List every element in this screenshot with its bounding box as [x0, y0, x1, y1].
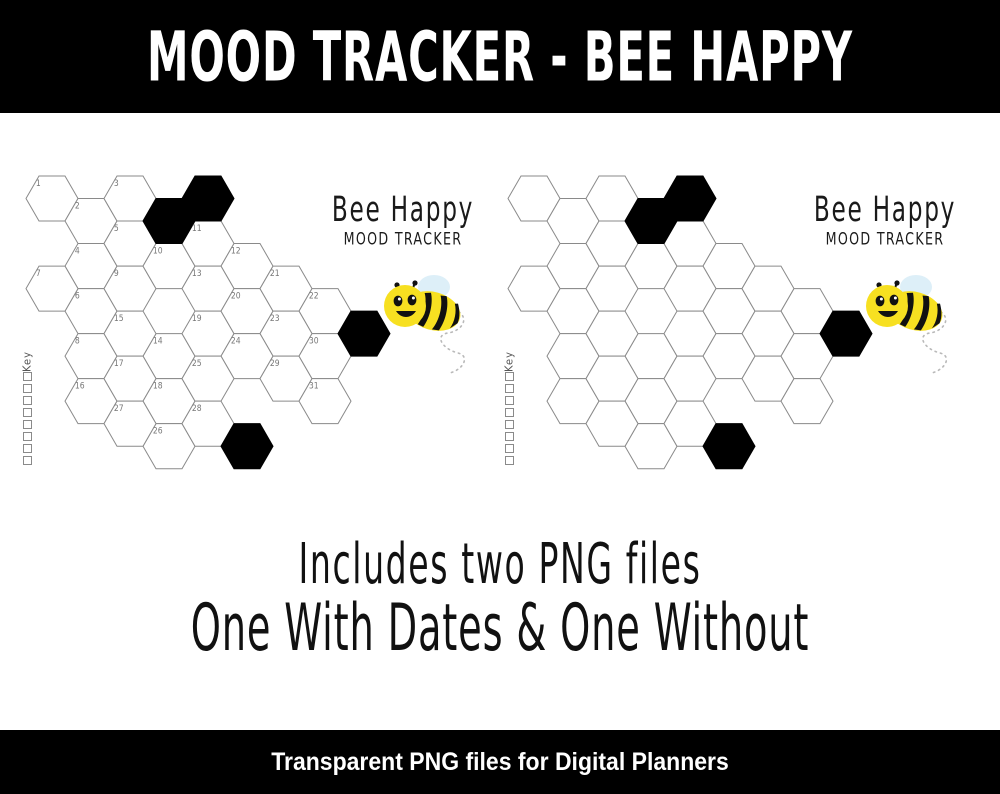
honeycomb-cell-day-number: 11 — [192, 224, 202, 234]
bee-eye-icon — [394, 296, 403, 307]
honeycomb-cell-day-number: 9 — [114, 269, 119, 279]
brand-block-undated: Bee Happy MOOD TRACKER — [795, 190, 975, 248]
brand-subtitle: MOOD TRACKER — [806, 229, 964, 249]
bee-svg — [858, 273, 968, 378]
honeycomb-cell-day-number: 7 — [36, 269, 41, 279]
honeycomb-cell-day-number: 14 — [153, 337, 163, 347]
honeycomb-cell-day-number: 17 — [114, 359, 124, 369]
bee-eye-icon — [408, 295, 417, 306]
honeycomb-cell-day-number: 29 — [270, 359, 280, 369]
honeycomb-cell-day-number: 12 — [231, 247, 241, 257]
brand-title: Bee Happy — [808, 190, 963, 230]
honeycomb-cell-day-number: 2 — [75, 202, 80, 212]
honeycomb-cell-day-number: 10 — [153, 247, 163, 257]
brand-block-dated: Bee Happy MOOD TRACKER — [313, 190, 493, 248]
page-title: MOOD TRACKER - BEE HAPPY — [100, 0, 900, 123]
promo-line-1: Includes two PNG files — [100, 528, 900, 599]
bee-antenna-tip-icon — [894, 280, 899, 285]
bee-head-icon — [866, 285, 908, 327]
honeycomb-cell-day-number: 15 — [114, 314, 124, 324]
honeycomb-cell-day-number: 26 — [153, 427, 163, 437]
honeycomb-cell-day-number: 22 — [309, 292, 319, 302]
poster-canvas: MOOD TRACKER - BEE HAPPY Key 12345678910… — [0, 0, 1000, 794]
honeycomb-cell-day-number: 16 — [75, 382, 85, 392]
bee-eye-icon — [876, 296, 885, 307]
footer-text: Transparent PNG files for Digital Planne… — [40, 730, 960, 794]
honeycomb-cell-day-number: 24 — [231, 337, 241, 347]
honeycomb-cell-day-number: 8 — [75, 337, 80, 347]
honeycomb-cell-day-number: 27 — [114, 404, 124, 414]
honeycomb-cell-day-number: 13 — [192, 269, 202, 279]
bee-head-icon — [384, 285, 426, 327]
header-band: MOOD TRACKER - BEE HAPPY — [0, 0, 1000, 113]
honeycomb-cell-day-number: 3 — [114, 179, 119, 189]
honeycomb-cell-day-number: 4 — [75, 247, 80, 257]
honeycomb-cell-day-number: 28 — [192, 404, 202, 414]
honeycomb-cell-day-number: 25 — [192, 359, 202, 369]
honeycomb-cell-day-number: 18 — [153, 382, 163, 392]
bee-illustration-dated — [376, 273, 486, 378]
brand-subtitle: MOOD TRACKER — [324, 229, 482, 249]
promo-text-block: Includes two PNG files One With Dates & … — [0, 528, 1000, 652]
brand-title: Bee Happy — [326, 190, 481, 230]
honeycomb-cell-day-number: 31 — [309, 382, 319, 392]
honeycomb-cell-day-number: 23 — [270, 314, 280, 324]
promo-line-2: One With Dates & One Without — [90, 590, 910, 668]
honeycomb-cell-day-number: 1 — [36, 179, 41, 189]
honeycomb-cell-day-number: 30 — [309, 337, 319, 347]
bee-illustration-undated — [858, 273, 968, 378]
footer-band: Transparent PNG files for Digital Planne… — [0, 730, 1000, 794]
bee-antenna-tip-icon — [412, 280, 417, 285]
tracker-panel-with-dates: Key 123456789101112131415161718192021222… — [8, 160, 488, 520]
honeycomb-cell-day-number: 5 — [114, 224, 119, 234]
honeycomb-cell-day-number: 21 — [270, 269, 280, 279]
bee-svg — [376, 273, 486, 378]
honeycomb-cell-day-number: 19 — [192, 314, 202, 324]
honeycomb-cell-day-number: 20 — [231, 292, 241, 302]
tracker-panel-without-dates: Key Bee Happy MOOD TRACKER — [490, 160, 970, 520]
honeycomb-cell-day-number: 6 — [75, 292, 80, 302]
bee-eye-icon — [890, 295, 899, 306]
